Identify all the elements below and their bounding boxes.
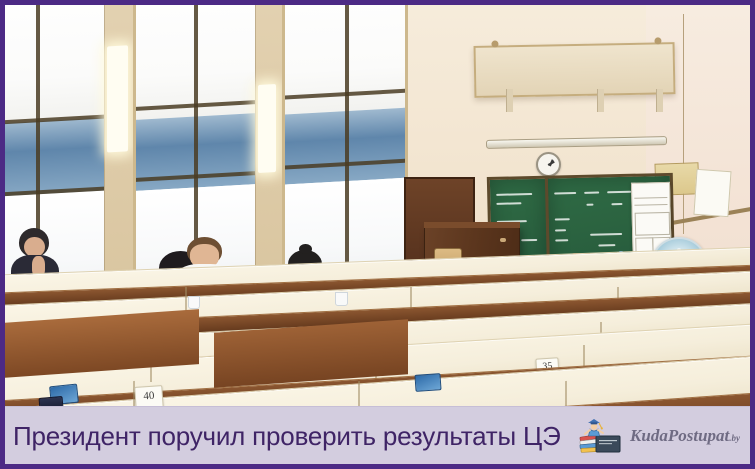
photo-frame: 37 35 31 40 <box>0 0 755 469</box>
brand-tld-text: .by <box>729 433 740 443</box>
plastic-cup <box>335 292 348 306</box>
site-brand[interactable]: KudaPostupat.by <box>579 416 744 456</box>
scene-photograph: 37 35 31 40 <box>5 5 750 464</box>
hanging-wire <box>683 14 684 234</box>
brand-name-text: KudaPostupat <box>630 426 729 445</box>
graduate-books-blackboard-logo-icon <box>579 416 623 456</box>
fluorescent-lamp-2 <box>258 84 277 173</box>
brand-wordmark: KudaPostupat.by <box>630 426 740 446</box>
plastic-cup-2 <box>188 296 200 309</box>
wall-notice-white <box>693 169 731 217</box>
fluorescent-lamp-1 <box>108 46 129 153</box>
caption-headline: Президент поручил проверить результаты Ц… <box>13 423 561 449</box>
banner-supports <box>474 89 671 112</box>
caption-bar: Президент поручил проверить результаты Ц… <box>5 406 750 464</box>
id-card-blue-2 <box>414 373 441 392</box>
